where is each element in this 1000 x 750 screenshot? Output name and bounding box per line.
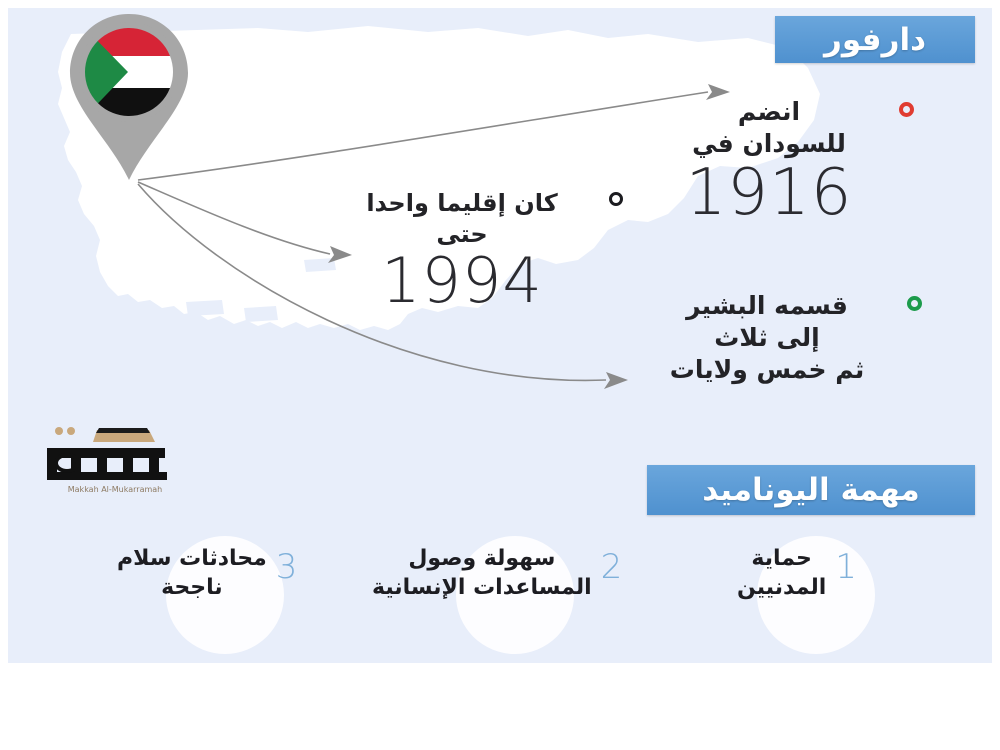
mission-item-3: 3 محادثات سلام ناجحة bbox=[117, 544, 352, 654]
mission-text-2: سهولة وصول المساعدات الإنسانية bbox=[372, 544, 592, 602]
mission-item-1: 1 حماية المدنيين bbox=[737, 544, 897, 654]
arrow-head-3 bbox=[604, 372, 628, 389]
bullet-red-icon bbox=[899, 102, 914, 117]
mission-number-2: 2 bbox=[601, 544, 623, 584]
logo-kaaba-top bbox=[96, 428, 150, 433]
fact-single-region: كان إقليما واحدا حتى 1994 bbox=[327, 188, 597, 312]
header-bar-darfur: دارفور bbox=[775, 16, 975, 63]
fact-joined-sudan: انضم للسودان في 1916 bbox=[654, 96, 884, 225]
fact-single-region-text: كان إقليما واحدا حتى bbox=[327, 188, 597, 249]
fact-joined-sudan-year: 1916 bbox=[654, 162, 884, 225]
header-darfur-label: دارفور bbox=[824, 22, 926, 58]
infographic-canvas: دارفور انضم للسودان في 1916 كان إقليما و… bbox=[8, 8, 992, 663]
makkah-newspaper-logo: Makkah Al-Mukarramah bbox=[37, 418, 192, 496]
fact-joined-sudan-text: انضم للسودان في bbox=[654, 96, 884, 160]
mission-item-2: 2 سهولة وصول المساعدات الإنسانية bbox=[372, 544, 652, 654]
map-notch-2 bbox=[244, 306, 278, 322]
mission-number-3: 3 bbox=[276, 544, 298, 584]
logo-dot-2 bbox=[67, 427, 75, 435]
map-notch-1 bbox=[186, 300, 224, 316]
fact-split-by-bashir: قسمه البشير إلى ثلاث ثم خمس ولايات bbox=[642, 290, 892, 386]
fact-split-by-bashir-text: قسمه البشير إلى ثلاث ثم خمس ولايات bbox=[642, 290, 892, 386]
logo-subtitle: Makkah Al-Mukarramah bbox=[68, 485, 163, 494]
logo-dot-1 bbox=[55, 427, 63, 435]
mission-text-1: حماية المدنيين bbox=[737, 544, 826, 602]
sudan-flag-pin bbox=[64, 10, 194, 182]
mission-text-3: محادثات سلام ناجحة bbox=[117, 544, 267, 602]
bullet-green-icon bbox=[907, 296, 922, 311]
bullet-dark-icon bbox=[609, 192, 623, 206]
arrow-to-region-fact bbox=[138, 182, 330, 254]
header-unamid-label: مهمة اليوناميد bbox=[702, 472, 919, 508]
arrow-to-join-fact bbox=[138, 92, 708, 180]
logo-wordmark-tail bbox=[47, 472, 167, 480]
header-bar-unamid: مهمة اليوناميد bbox=[647, 465, 975, 515]
mission-number-1: 1 bbox=[835, 544, 857, 584]
fact-single-region-year: 1994 bbox=[327, 251, 597, 312]
